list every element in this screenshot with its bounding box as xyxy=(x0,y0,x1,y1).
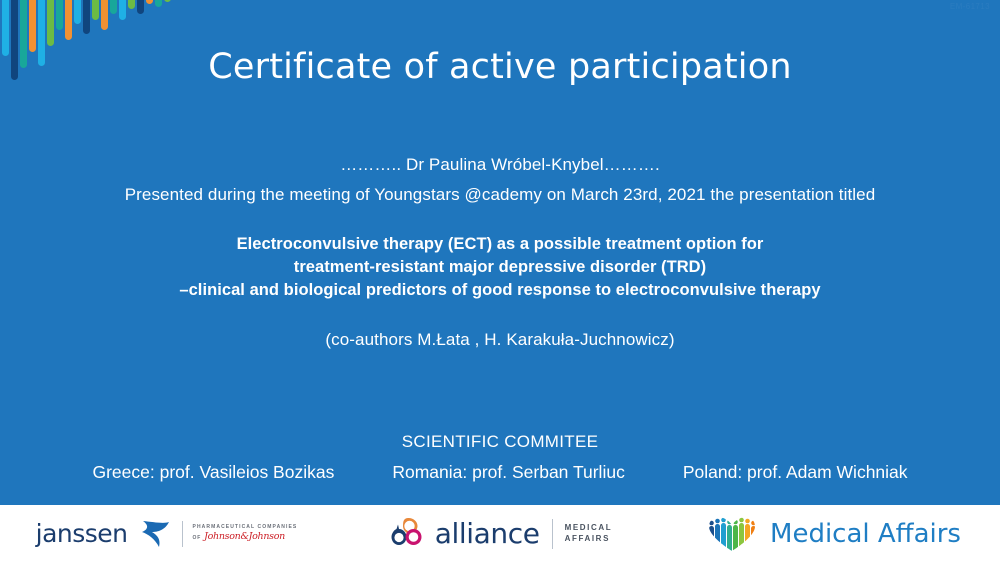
presentation-title-line-1: Electroconvulsive therapy (ECT) as a pos… xyxy=(60,233,940,256)
divider xyxy=(182,521,183,547)
divider xyxy=(552,519,553,549)
alliance-sub-medical: MEDICAL xyxy=(565,523,613,534)
certificate-body: ……….. Dr Paulina Wróbel-Knybel………. Prese… xyxy=(60,152,940,350)
janssen-swoosh-icon xyxy=(138,517,172,551)
alliance-wordmark: alliance xyxy=(435,520,540,548)
medical-affairs-logo: Medical Affairs xyxy=(667,505,1000,562)
alliance-logo: alliance MEDICAL AFFAIRS xyxy=(333,505,667,562)
footer-logo-bar: janssen PHARMACEUTICAL COMPANIES OF John… xyxy=(0,505,1000,562)
janssen-tagline-of: OF xyxy=(193,535,202,541)
committee-member-romania: Romania: prof. Serban Turliuc xyxy=(392,462,624,483)
janssen-logo: janssen PHARMACEUTICAL COMPANIES OF John… xyxy=(0,505,333,562)
recipient-name: ……….. Dr Paulina Wróbel-Knybel………. xyxy=(60,152,940,178)
medical-affairs-wordmark: Medical Affairs xyxy=(770,521,961,547)
janssen-wordmark: janssen xyxy=(36,521,128,546)
johnson-johnson-wordmark: Johnson&Johnson xyxy=(204,531,285,543)
people-heart-icon xyxy=(706,514,758,554)
committee-member-greece: Greece: prof. Vasileios Bozikas xyxy=(92,462,334,483)
alliance-sub-affairs: AFFAIRS xyxy=(565,534,613,545)
page-title: Certificate of active participation xyxy=(0,47,1000,87)
meeting-description: Presented during the meeting of Youngsta… xyxy=(60,182,940,207)
presentation-title: Electroconvulsive therapy (ECT) as a pos… xyxy=(60,233,940,302)
committee-heading: SCIENTIFIC COMMITEE xyxy=(0,432,1000,452)
presentation-title-line-2: treatment-resistant major depressive dis… xyxy=(60,256,940,279)
committee-member-poland: Poland: prof. Adam Wichniak xyxy=(683,462,908,483)
alliance-rings-icon xyxy=(388,515,426,553)
certificate-slide: EM-61713 Certificate of active participa… xyxy=(0,0,1000,562)
presentation-title-line-3: –clinical and biological predictors of g… xyxy=(60,279,940,302)
coauthors-line: (co-authors M.Łata , H. Karakuła-Juchnow… xyxy=(60,330,940,350)
committee-members: Greece: prof. Vasileios Bozikas Romania:… xyxy=(0,462,1000,483)
scientific-committee: SCIENTIFIC COMMITEE Greece: prof. Vasile… xyxy=(0,432,1000,483)
document-code: EM-61713 xyxy=(950,2,990,11)
